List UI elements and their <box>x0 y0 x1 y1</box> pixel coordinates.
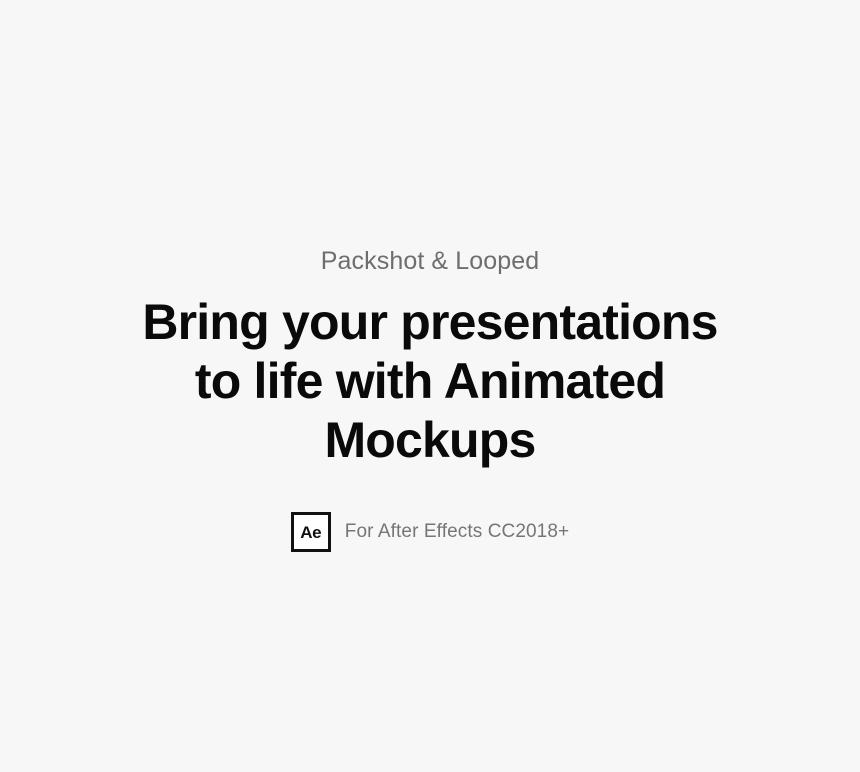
compatibility-text: For After Effects CC2018+ <box>345 521 569 544</box>
headline-line-2: to life with Animated <box>142 352 717 411</box>
eyebrow-text: Packshot & Looped <box>321 248 540 276</box>
after-effects-logo-icon: Ae <box>291 512 331 552</box>
hero-content: Packshot & Looped Bring your presentatio… <box>0 248 860 553</box>
after-effects-badge-label: Ae <box>300 524 321 541</box>
page-title: Bring your presentations to life with An… <box>142 293 717 470</box>
headline-line-1: Bring your presentations <box>142 293 717 352</box>
headline-line-3: Mockups <box>142 411 717 470</box>
hero-section: Packshot & Looped Bring your presentatio… <box>0 0 860 772</box>
compatibility-row: Ae For After Effects CC2018+ <box>291 512 569 552</box>
